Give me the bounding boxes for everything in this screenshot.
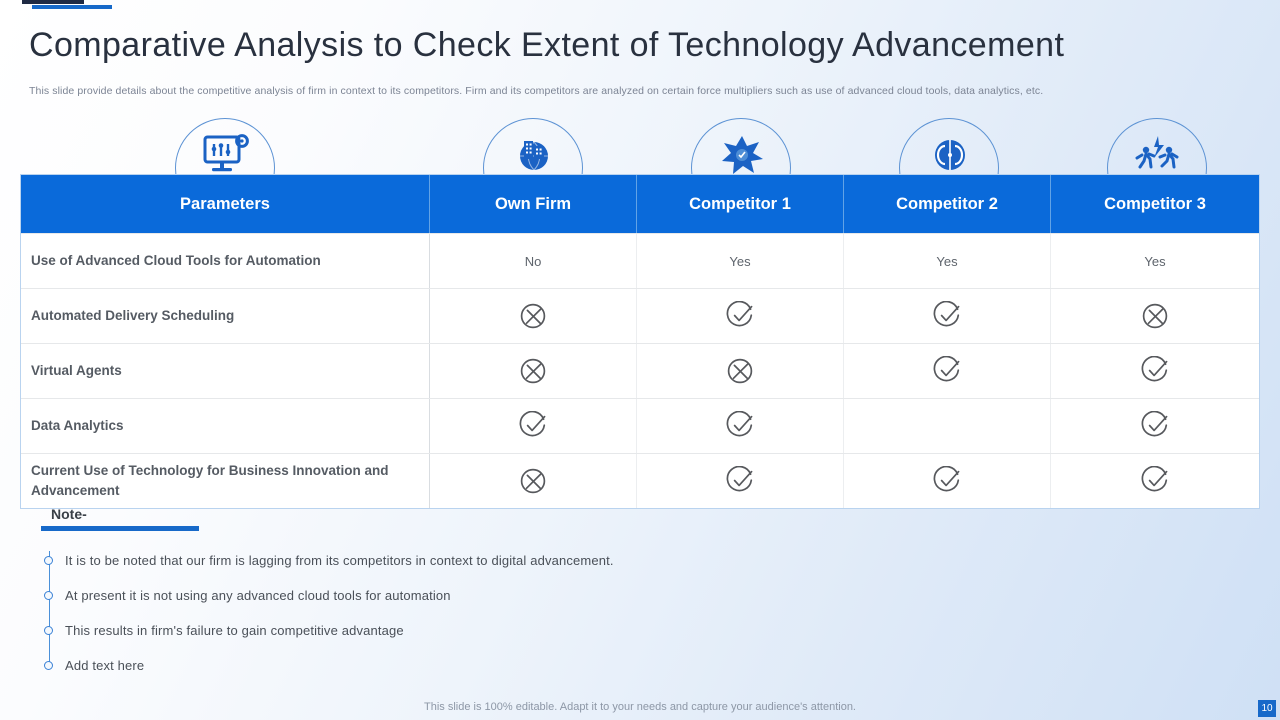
table-header-competitor-3: Competitor 3 [1051,175,1259,233]
table-header-competitor-2: Competitor 2 [844,175,1051,233]
icon-badge-competitor-3 [1107,118,1211,180]
row-4-competitor-2 [844,454,1051,508]
check-circle-icon [1140,411,1170,441]
comparison-table: Parameters Own Firm Competitor 1 Competi… [20,174,1260,509]
runners-race-icon [1107,134,1209,176]
list-item: Add text here [29,648,789,683]
check-circle-icon [518,411,548,441]
check-circle-icon [725,301,755,331]
table-row: Current Use of Technology for Business I… [21,453,1259,508]
check-circle-icon-wrap [932,466,962,496]
bullet-dot-icon [44,556,53,565]
check-circle-icon-wrap [725,411,755,441]
row-2-own-firm [430,344,637,398]
table-row: Virtual Agents [21,343,1259,398]
page-number-badge: 10 [1258,700,1276,717]
list-item: It is to be noted that our firm is laggi… [29,543,789,578]
check-circle-icon [725,466,755,496]
check-circle-icon-wrap [932,301,962,331]
table-row: Use of Advanced Cloud Tools for Automati… [21,233,1259,288]
check-circle-icon-wrap [725,466,755,496]
row-1-competitor-3 [1051,289,1259,343]
row-4-own-firm [430,454,637,508]
row-4-competitor-1 [637,454,844,508]
row-2-competitor-2 [844,344,1051,398]
table-row: Automated Delivery Scheduling [21,288,1259,343]
check-circle-icon [1140,356,1170,386]
check-circle-icon-wrap [932,356,962,386]
page-title: Comparative Analysis to Check Extent of … [29,26,1064,65]
cross-circle-icon-wrap [518,301,548,331]
check-circle-icon [1140,466,1170,496]
check-circle-icon [932,301,962,331]
bullet-dot-icon [44,591,53,600]
target-analytics-icon [899,134,1001,176]
burst-star-icon [691,134,793,176]
note-item-text: At present it is not using any advanced … [29,588,451,603]
check-circle-icon-wrap [1140,356,1170,386]
icon-badge-competitor-1 [691,118,795,180]
note-underline [41,526,199,531]
column-icons-row [20,118,1260,180]
check-circle-icon-wrap [725,301,755,331]
row-4-competitor-3 [1051,454,1259,508]
cross-circle-icon [518,356,548,386]
row-2-competitor-1 [637,344,844,398]
table-header-row: Parameters Own Firm Competitor 1 Competi… [21,175,1259,233]
row-0-own-firm: No [430,234,637,288]
row-label: Current Use of Technology for Business I… [21,454,430,508]
check-circle-icon [725,411,755,441]
row-1-competitor-2 [844,289,1051,343]
row-2-competitor-3 [1051,344,1259,398]
note-item-text: It is to be noted that our firm is laggi… [29,553,614,568]
row-label: Automated Delivery Scheduling [21,289,430,343]
row-0-competitor-1: Yes [637,234,844,288]
icon-badge-own-firm [483,118,587,180]
row-label: Virtual Agents [21,344,430,398]
cross-circle-icon [725,356,755,386]
note-block: Note- It is to be noted that our firm is… [29,504,789,683]
footer-note: This slide is 100% editable. Adapt it to… [0,701,1280,713]
row-1-competitor-1 [637,289,844,343]
cross-circle-icon [518,466,548,496]
row-3-competitor-2 [844,399,1051,453]
cross-circle-icon-wrap [518,356,548,386]
check-circle-icon [932,356,962,386]
row-0-competitor-3: Yes [1051,234,1259,288]
table-header-own-firm: Own Firm [430,175,637,233]
top-accent-bars [22,0,142,12]
cross-circle-icon-wrap [1140,301,1170,331]
icon-badge-parameters [175,118,279,180]
row-3-competitor-3 [1051,399,1259,453]
note-title: Note- [29,504,789,524]
page-subtitle: This slide provide details about the com… [29,85,1043,97]
row-label: Use of Advanced Cloud Tools for Automati… [21,234,430,288]
list-item: This results in firm's failure to gain c… [29,613,789,648]
table-row: Data Analytics [21,398,1259,453]
row-1-own-firm [430,289,637,343]
icon-badge-competitor-2 [899,118,1003,180]
cross-circle-icon [1140,301,1170,331]
list-item: At present it is not using any advanced … [29,578,789,613]
bullet-dot-icon [44,661,53,670]
table-header-competitor-1: Competitor 1 [637,175,844,233]
check-circle-icon-wrap [518,411,548,441]
cross-circle-icon [518,301,548,331]
row-0-competitor-2: Yes [844,234,1051,288]
slide-root: Comparative Analysis to Check Extent of … [0,0,1280,720]
monitor-settings-icon [175,134,277,178]
table-header-parameters: Parameters [21,175,430,233]
cross-circle-icon-wrap [725,356,755,386]
cross-circle-icon-wrap [518,466,548,496]
accent-bar-blue [32,5,112,9]
note-list: It is to be noted that our firm is laggi… [29,543,789,683]
check-circle-icon-wrap [1140,466,1170,496]
check-circle-icon-wrap [1140,411,1170,441]
bullet-dot-icon [44,626,53,635]
row-label: Data Analytics [21,399,430,453]
note-item-text: This results in firm's failure to gain c… [29,623,404,638]
row-3-own-firm [430,399,637,453]
buildings-globe-icon [483,134,585,176]
accent-bar-dark [22,0,84,4]
row-3-competitor-1 [637,399,844,453]
check-circle-icon [932,466,962,496]
